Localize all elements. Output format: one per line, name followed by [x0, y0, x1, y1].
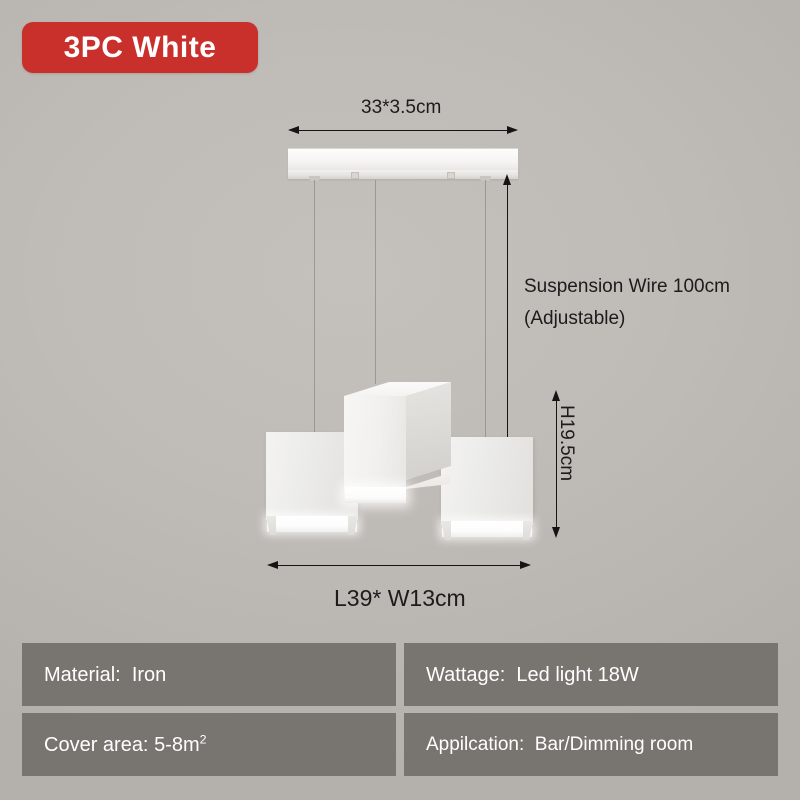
spec-cell-application: Appilcation: Bar/Dimming room [404, 713, 778, 776]
suspension-label-line2: (Adjustable) [524, 308, 625, 330]
suspension-wire-center [375, 180, 376, 384]
product-spec-image: 3PC White 33*3.5cm Suspension Wire 100cm… [0, 0, 800, 800]
bottom-width-rule [272, 565, 526, 566]
spec-wattage-label: Wattage: [426, 664, 505, 686]
suspension-label-line1: Suspension Wire 100cm [524, 276, 730, 298]
height-label: H19.5cm [555, 405, 577, 481]
cube-diffuser-center [345, 487, 406, 503]
spec-wattage-value: Led light 18W [516, 664, 638, 686]
spec-material-label: Material: [44, 664, 121, 686]
cube-diffuser-right [442, 521, 532, 537]
spec-cover-area-value: 5-8m [154, 734, 200, 756]
suspension-wire-right [485, 180, 486, 440]
spec-cover-area-text: Cover area: 5-8m2 [44, 735, 207, 755]
spec-application-value: Bar/Dimming room [535, 734, 693, 755]
top-width-arrow-right-icon [507, 126, 518, 134]
spec-cover-area-superscript: 2 [200, 732, 207, 746]
cube-shade-center-front-face [344, 396, 406, 494]
spec-material-value: Iron [132, 664, 166, 686]
suspension-arrow-up-icon [503, 174, 511, 185]
spec-material-text: Material: Iron [44, 665, 166, 685]
ceiling-plate [288, 148, 518, 171]
top-width-arrow-left-icon [288, 126, 299, 134]
plate-screw-right [447, 172, 455, 179]
spec-cell-cover-area: Cover area: 5-8m2 [22, 713, 396, 776]
cube-shade-center-right-face [406, 382, 451, 480]
top-width-label: 33*3.5cm [361, 97, 441, 119]
height-arrow-up-icon [552, 390, 560, 401]
cube-diffuser-left [267, 516, 357, 532]
bottom-width-arrow-left-icon [267, 561, 278, 569]
plate-screw-left [351, 172, 359, 179]
spec-wattage-text: Wattage: Led light 18W [426, 665, 639, 685]
suspension-rule [507, 182, 508, 440]
spec-cell-wattage: Wattage: Led light 18W [404, 643, 778, 706]
height-arrow-down-icon [552, 527, 560, 538]
variant-badge-label: 3PC White [64, 33, 217, 63]
spec-cell-material: Material: Iron [22, 643, 396, 706]
spec-application-text: Appilcation: Bar/Dimming room [426, 735, 693, 754]
bottom-width-label: L39* W13cm [334, 585, 466, 612]
suspension-wire-left [314, 180, 315, 435]
bottom-width-arrow-right-icon [520, 561, 531, 569]
spec-cover-area-label: Cover area: [44, 734, 149, 756]
cube-shade-right [441, 437, 533, 525]
variant-badge: 3PC White [22, 22, 258, 73]
spec-table: Material: Iron Wattage: Led light 18W Co… [22, 643, 778, 776]
top-width-rule [292, 130, 516, 131]
spec-application-label: Appilcation: [426, 734, 524, 755]
